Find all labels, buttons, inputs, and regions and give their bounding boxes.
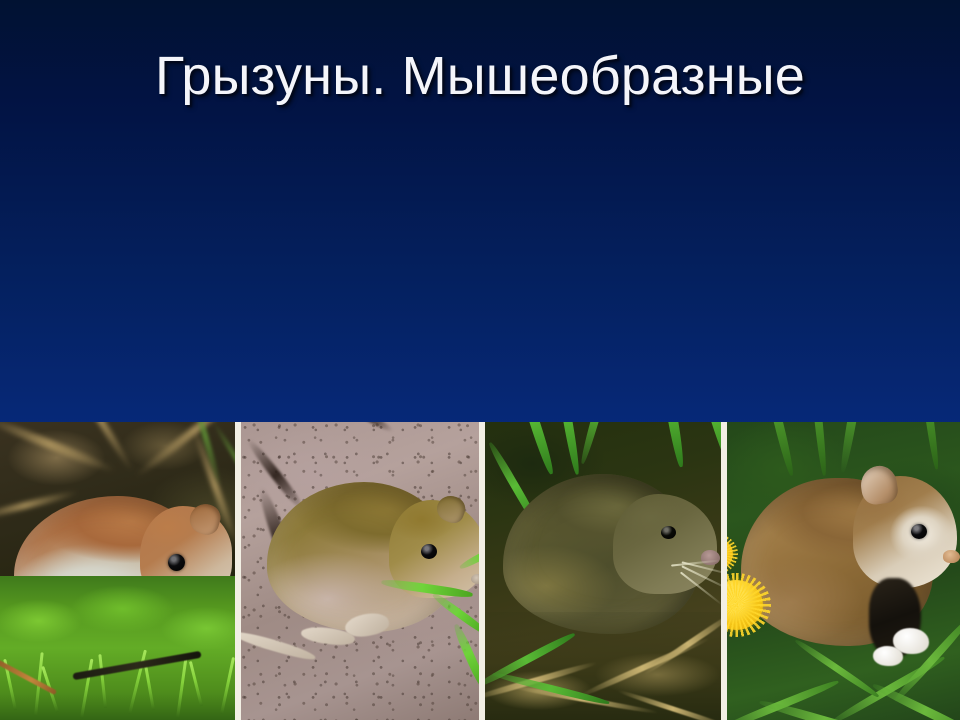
hamster-paw (873, 646, 903, 666)
vole-nose (471, 574, 479, 584)
dandelion-flower (727, 580, 763, 630)
photo-european-hamster[interactable] (727, 422, 960, 720)
presentation-slide: Грызуны. Мышеобразные (0, 0, 960, 720)
vole-eye (661, 526, 676, 539)
photo-bank-vole[interactable] (0, 422, 235, 720)
vole-eye (168, 554, 185, 571)
hamster-nose (943, 550, 960, 563)
title-area: Грызуны. Мышеобразные (0, 44, 960, 108)
dandelion-flower (727, 538, 733, 570)
vole-nose (701, 550, 720, 565)
photo-water-vole[interactable] (485, 422, 721, 720)
photo-common-vole[interactable] (241, 422, 479, 720)
photo-strip (0, 422, 960, 720)
page-title: Грызуны. Мышеобразные (155, 44, 805, 108)
hamster-eye (911, 524, 927, 539)
vole-eye (421, 544, 437, 559)
